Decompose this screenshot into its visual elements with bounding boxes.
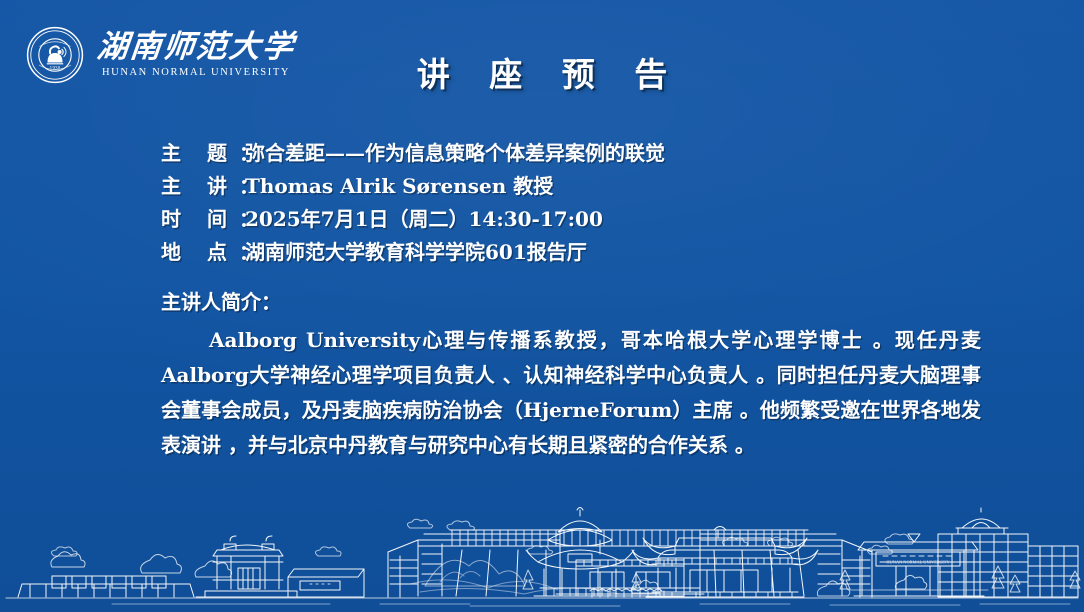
speaker-bio-text: Aalborg University心理与传播系教授，哥本哈根大学心理学博士 。… [161,323,981,463]
info-label-subject: 主题： [161,138,245,169]
info-label-speaker: 主讲： [161,171,245,202]
info-row-venue: 地点： 湖南师范大学教育科学学院601报告厅 [161,237,991,268]
info-label-time: 时间： [161,204,245,235]
info-row-subject: 主题： 弥合差距——作为信息策略个体差异案例的联觉 [161,138,991,169]
info-value-time: 2025年7月1日（周二）14:30-17:00 [245,204,991,235]
lecture-announcement-poster: 1938 湖南师范大学 HUNAN NORMAL UNIVERSITY 讲 座 … [0,0,1084,612]
info-value-speaker: Thomas Alrik Sørensen 教授 [245,171,991,202]
info-row-time: 时间： 2025年7月1日（周二）14:30-17:00 [161,204,991,235]
page-title: 讲 座 预 告 [0,48,1084,96]
poster-header: 1938 湖南师范大学 HUNAN NORMAL UNIVERSITY 讲 座 … [0,0,1084,118]
poster-content: 主题： 弥合差距——作为信息策略个体差异案例的联觉 主讲： Thomas Alr… [161,138,991,463]
campus-skyline-illustration: HUNAN NORMAL UNIVERSITY [0,484,1084,612]
info-value-venue: 湖南师范大学教育科学学院601报告厅 [245,237,991,268]
info-label-venue: 地点： [161,237,245,268]
info-value-subject: 弥合差距——作为信息策略个体差异案例的联觉 [245,138,991,169]
info-row-speaker: 主讲： Thomas Alrik Sørensen 教授 [161,171,991,202]
speaker-bio-heading: 主讲人简介： [161,287,991,317]
svg-text:HUNAN NORMAL UNIVERSITY: HUNAN NORMAL UNIVERSITY [886,560,950,565]
